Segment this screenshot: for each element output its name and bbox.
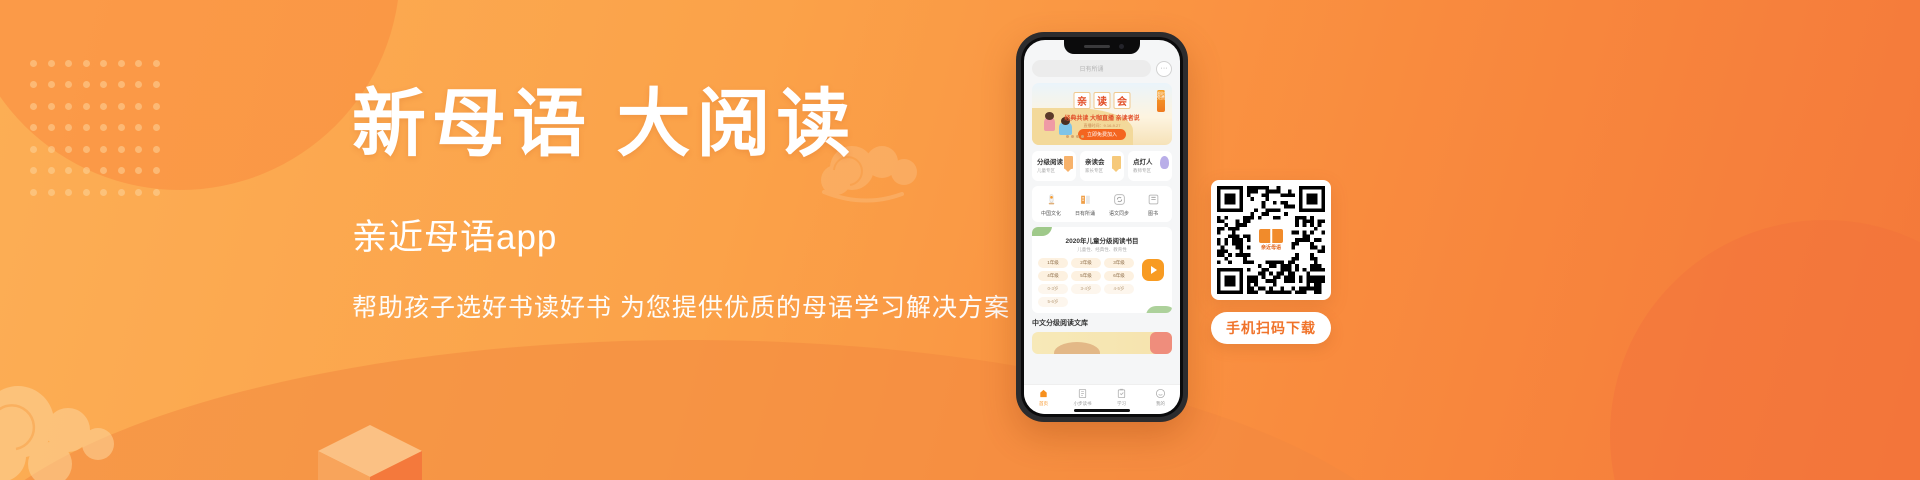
quick-icon-label: 中国文化 <box>1034 210 1068 217</box>
quick-icon-语文同步[interactable]: 语文同步 <box>1102 192 1136 217</box>
dot <box>153 189 160 196</box>
booklist-chips: 1年级2年级3年级4年级5年级6年级0-3岁3-4岁4-5岁5-6岁 <box>1038 258 1166 307</box>
dot <box>118 167 125 174</box>
dot <box>83 167 90 174</box>
hero-kid-left <box>1044 117 1055 131</box>
carousel-dots[interactable] <box>1066 135 1084 138</box>
hero-flag-badge: 限时免费 <box>1157 90 1165 112</box>
bookmark-icon <box>1160 156 1169 169</box>
search-input[interactable]: 日有所诵 <box>1032 60 1151 77</box>
dot <box>65 103 72 110</box>
quick-icon-label: 日有所诵 <box>1068 210 1102 217</box>
grade-chip[interactable]: 6年级 <box>1104 271 1134 281</box>
phone-notch <box>1064 40 1140 54</box>
grade-chip[interactable]: 4年级 <box>1038 271 1068 281</box>
dot <box>153 103 160 110</box>
dot <box>30 189 37 196</box>
grade-chip[interactable]: 5年级 <box>1071 271 1101 281</box>
hero-kid-right <box>1059 122 1072 135</box>
category-card-row: 分级阅读儿童专区亲读会家长专区点灯人教师专区 <box>1032 151 1172 181</box>
qr-download-block: 亲近母语 手机扫码下载 <box>1211 180 1331 344</box>
qr-center-logo: 亲近母语 <box>1255 224 1287 256</box>
quick-icon-图书[interactable]: 图书 <box>1136 192 1170 217</box>
phone-frame: 日有所诵 ··· 亲读会 限时免费 经典共读 大咖直播 亲读者说 直播时间：9.… <box>1021 37 1183 417</box>
tab-label: 小步读书 <box>1063 401 1102 407</box>
dot <box>100 189 107 196</box>
quick-icon-label: 语文同步 <box>1102 210 1136 217</box>
grade-chip[interactable]: 2年级 <box>1071 258 1101 268</box>
age-chip[interactable]: 5-6岁 <box>1038 297 1068 307</box>
dot <box>118 103 125 110</box>
dot <box>30 124 37 131</box>
quick-icon-日有所诵[interactable]: 日有所诵 <box>1068 192 1102 217</box>
tab-学习[interactable]: 学习 <box>1102 387 1141 407</box>
page-title: 新母语 大阅读 <box>352 82 1012 169</box>
dot <box>153 124 160 131</box>
dot <box>135 189 142 196</box>
dot <box>100 81 107 88</box>
hero-title-char: 读 <box>1094 92 1111 109</box>
dot <box>118 60 125 67</box>
dot <box>48 81 55 88</box>
dot <box>48 167 55 174</box>
dot <box>30 103 37 110</box>
age-chip[interactable]: 4-5岁 <box>1104 284 1134 294</box>
quick-icon-中国文化[interactable]: 中国文化 <box>1034 192 1068 217</box>
age-chip[interactable]: 0-3岁 <box>1038 284 1068 294</box>
promo-banner: 新母语 大阅读 亲近母语app 帮助孩子选好书读好书 为您提供优质的母语学习解决… <box>0 0 1920 480</box>
dot <box>100 103 107 110</box>
dot <box>48 146 55 153</box>
library-card[interactable] <box>1032 332 1172 354</box>
dot <box>135 167 142 174</box>
decor-hill <box>0 340 1440 480</box>
quick-icon-label: 图书 <box>1136 210 1170 217</box>
hero-join-button[interactable]: 立即免费加入 <box>1078 129 1126 140</box>
message-icon[interactable]: ··· <box>1156 61 1172 77</box>
study-icon <box>1102 387 1141 399</box>
bookmark-icon <box>1064 156 1073 169</box>
library-section: 中文分级阅读文库 <box>1032 318 1172 354</box>
qr-code[interactable]: 亲近母语 <box>1217 186 1325 294</box>
banner-tagline: 帮助孩子选好书读好书 为您提供优质的母语学习解决方案 <box>352 288 1012 324</box>
library-hill-decor <box>1054 342 1100 354</box>
dot <box>83 146 90 153</box>
recite-icon <box>1068 192 1102 207</box>
dot <box>100 60 107 67</box>
hero-title: 亲读会 <box>1074 92 1131 109</box>
banner-copy: 新母语 大阅读 亲近母语app 帮助孩子选好书读好书 为您提供优质的母语学习解决… <box>352 82 1012 324</box>
search-bar[interactable]: 日有所诵 ··· <box>1032 60 1172 77</box>
sync-icon <box>1102 192 1136 207</box>
dot <box>153 81 160 88</box>
dot <box>83 60 90 67</box>
dot <box>118 81 125 88</box>
booklist-section: 2020年儿童分级阅读书目 儿童性、经典性、教育性 1年级2年级3年级4年级5年… <box>1032 227 1172 313</box>
decor-dot-grid <box>30 60 170 210</box>
dot <box>48 60 55 67</box>
hero-subtitle: 经典共读 大咖直播 亲读者说 <box>1064 113 1139 122</box>
category-card-3[interactable]: 点灯人教师专区 <box>1128 151 1172 181</box>
home-indicator <box>1074 409 1130 412</box>
dot <box>135 81 142 88</box>
dot <box>65 167 72 174</box>
dot <box>83 124 90 131</box>
leaf-decor-bottom <box>1146 306 1172 313</box>
app-name-subtitle: 亲近母语app <box>352 209 1012 260</box>
home-icon <box>1024 387 1063 399</box>
book-icon <box>1136 192 1170 207</box>
tab-首页[interactable]: 首页 <box>1024 387 1063 407</box>
dot <box>83 81 90 88</box>
dot <box>48 103 55 110</box>
dot <box>118 146 125 153</box>
dot <box>83 103 90 110</box>
dot <box>48 124 55 131</box>
dot <box>65 189 72 196</box>
dot <box>100 167 107 174</box>
dot <box>65 124 72 131</box>
dot <box>153 146 160 153</box>
decor-cloud-bottom-left <box>0 370 150 480</box>
dot <box>83 189 90 196</box>
decor-cube <box>318 425 422 480</box>
dot <box>135 60 142 67</box>
dot <box>65 60 72 67</box>
dot <box>153 167 160 174</box>
download-button[interactable]: 手机扫码下载 <box>1211 312 1331 344</box>
dot <box>135 146 142 153</box>
dot <box>30 146 37 153</box>
dot <box>30 60 37 67</box>
profile-icon <box>1141 387 1180 399</box>
hero-title-char: 亲 <box>1074 92 1091 109</box>
decor-circle-bottom-right <box>1610 220 1920 480</box>
booklist-subtitle: 儿童性、经典性、教育性 <box>1038 247 1166 253</box>
grade-chip[interactable]: 1年级 <box>1038 258 1068 268</box>
category-card-2[interactable]: 亲读会家长专区 <box>1080 151 1124 181</box>
play-triangle <box>1151 266 1157 274</box>
qr-logo-text: 亲近母语 <box>1261 244 1281 251</box>
library-accent-decor <box>1150 332 1172 354</box>
tab-label: 我的 <box>1141 401 1180 407</box>
dot <box>118 124 125 131</box>
dot <box>65 146 72 153</box>
dot <box>30 81 37 88</box>
dot <box>100 124 107 131</box>
grade-chip[interactable]: 3年级 <box>1104 258 1134 268</box>
tab-小步读书[interactable]: 小步读书 <box>1063 387 1102 407</box>
reading-icon <box>1063 387 1102 399</box>
tab-我的[interactable]: 我的 <box>1141 387 1180 407</box>
dot <box>135 103 142 110</box>
phone-screen: 日有所诵 ··· 亲读会 限时免费 经典共读 大咖直播 亲读者说 直播时间：9.… <box>1024 40 1180 414</box>
book-logo-icon <box>1259 229 1283 243</box>
category-card-1[interactable]: 分级阅读儿童专区 <box>1032 151 1076 181</box>
dot <box>118 189 125 196</box>
phone-mockup: 日有所诵 ··· 亲读会 限时免费 经典共读 大咖直播 亲读者说 直播时间：9.… <box>1016 32 1188 422</box>
tab-label: 学习 <box>1102 401 1141 407</box>
bookmark-icon <box>1112 156 1121 169</box>
dot <box>48 189 55 196</box>
video-play-icon[interactable] <box>1142 259 1164 281</box>
booklist-title: 2020年儿童分级阅读书目 <box>1038 235 1166 245</box>
age-chip[interactable]: 3-4岁 <box>1071 284 1101 294</box>
qr-card: 亲近母语 <box>1211 180 1331 300</box>
dot <box>65 81 72 88</box>
tab-label: 首页 <box>1024 401 1063 407</box>
dot <box>135 124 142 131</box>
dot <box>100 146 107 153</box>
dot <box>30 167 37 174</box>
library-heading: 中文分级阅读文库 <box>1032 318 1172 328</box>
phone-camera <box>1119 44 1124 49</box>
dot <box>153 60 160 67</box>
quick-icon-row: 中国文化日有所诵语文同步图书 <box>1032 186 1172 222</box>
culture-icon <box>1034 192 1068 207</box>
hero-banner[interactable]: 亲读会 限时免费 经典共读 大咖直播 亲读者说 直播时间：9.16-9.27 立… <box>1032 83 1172 145</box>
phone-speaker <box>1084 45 1110 48</box>
hero-title-char: 会 <box>1114 92 1131 109</box>
